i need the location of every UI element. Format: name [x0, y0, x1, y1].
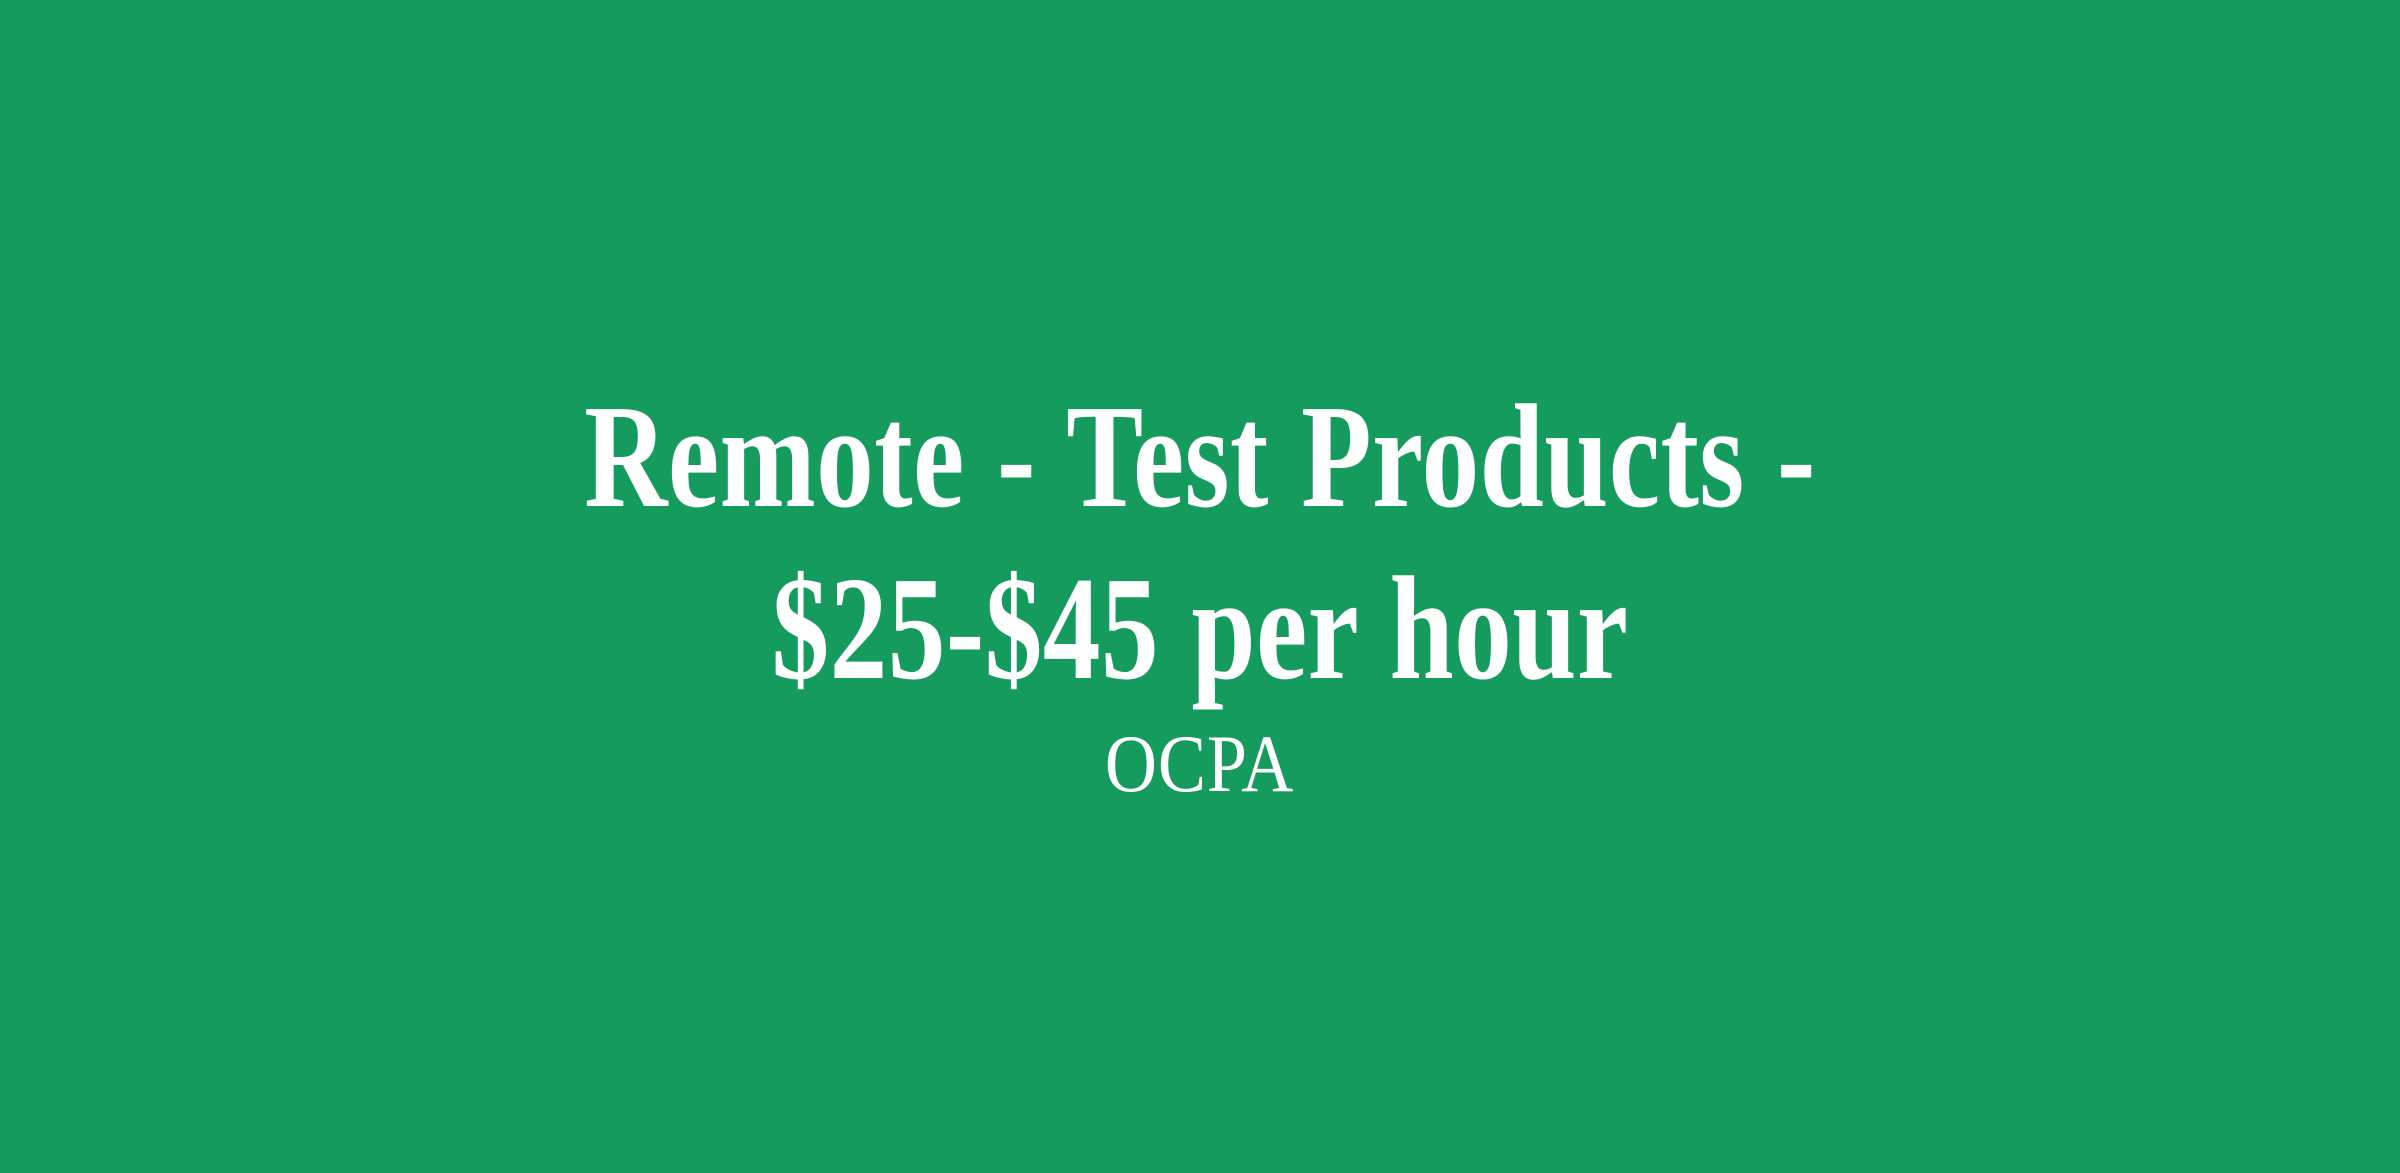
page-title: Remote - Test Products - $25-$45 per hou… [381, 372, 2019, 715]
job-banner: Remote - Test Products - $25-$45 per hou… [0, 0, 2400, 1173]
organization-name: OCPA [1105, 721, 1294, 807]
banner-content: Remote - Test Products - $25-$45 per hou… [380, 372, 2020, 807]
